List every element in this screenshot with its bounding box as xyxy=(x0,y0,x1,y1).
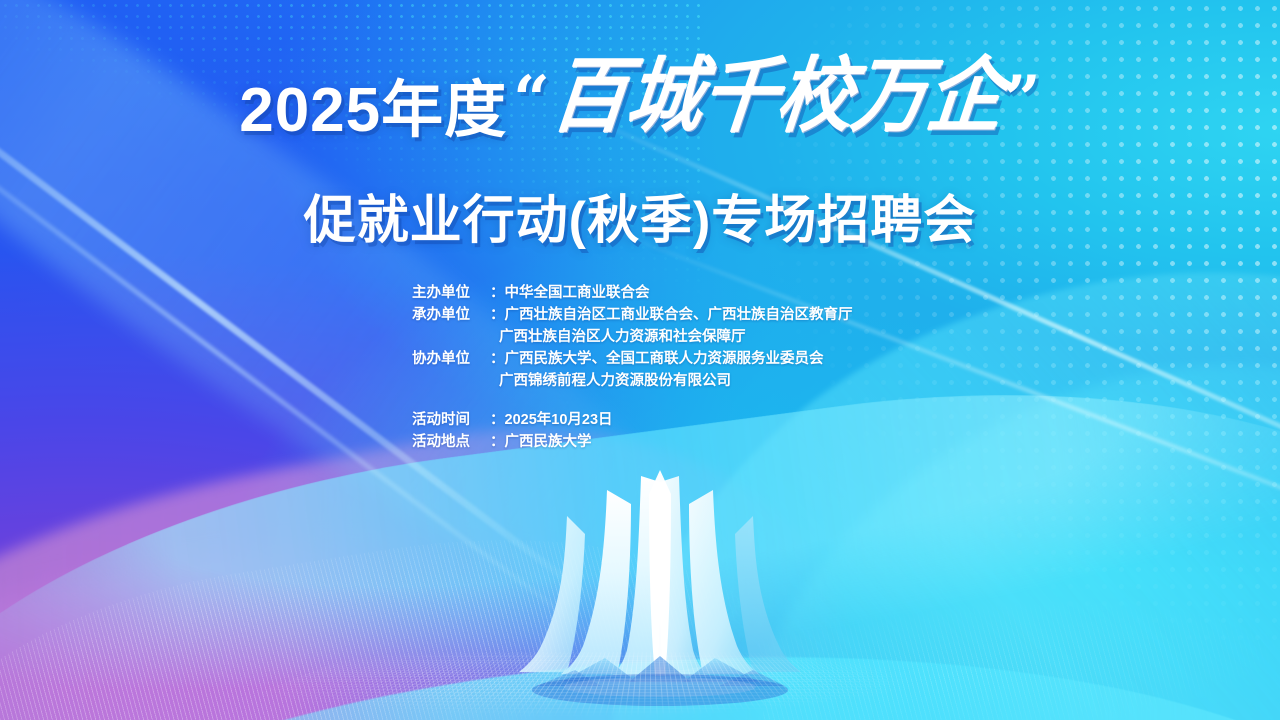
organizer-colon: ： xyxy=(490,304,505,326)
title-year: 2025年度 xyxy=(239,80,507,142)
organizer-value: 中华全国工商业联合会 xyxy=(505,282,973,304)
main-title: 2025年度 “ 百城千校万企 ” xyxy=(0,66,1280,142)
organizer-row: 主办单位 ： 中华全国工商业联合会 xyxy=(412,282,972,304)
title-slogan-group: “ 百城千校万企 ” xyxy=(513,58,1041,134)
organizer-colon: ： xyxy=(490,348,505,370)
event-time-row: 活动时间 ： 2025年10月23日 xyxy=(412,409,972,431)
organizer-value-continued: 广西壮族自治区人力资源和社会保障厅 xyxy=(412,326,972,348)
event-time-value: 2025年10月23日 xyxy=(505,409,973,431)
event-meta-block: 活动时间 ： 2025年10月23日 活动地点 ： 广西民族大学 xyxy=(412,409,972,453)
organizer-value: 广西民族大学、全国工商联人力资源服务业委员会 xyxy=(505,348,973,370)
organizer-label: 承办单位 xyxy=(412,304,490,326)
poster-canvas: 2025年度 “ 百城千校万企 ” 促就业行动(秋季)专场招聘会 主办单位 ： … xyxy=(0,0,1280,720)
organizer-label: 主办单位 xyxy=(412,282,490,304)
quote-close-icon: ” xyxy=(1004,68,1041,132)
event-location-label: 活动地点 xyxy=(412,431,490,453)
poster-subtitle: 促就业行动(秋季)专场招聘会 xyxy=(0,178,1280,253)
organizer-row: 承办单位 ： 广西壮族自治区工商业联合会、广西壮族自治区教育厅 xyxy=(412,304,972,326)
poster-content: 2025年度 “ 百城千校万企 ” 促就业行动(秋季)专场招聘会 主办单位 ： … xyxy=(0,0,1280,720)
organizer-value-continued: 广西锦绣前程人力资源股份有限公司 xyxy=(412,370,972,392)
event-time-colon: ： xyxy=(490,409,505,431)
info-block: 主办单位 ： 中华全国工商业联合会 承办单位 ： 广西壮族自治区工商业联合会、广… xyxy=(412,282,972,453)
event-time-label: 活动时间 xyxy=(412,409,490,431)
event-location-row: 活动地点 ： 广西民族大学 xyxy=(412,431,972,453)
event-location-value: 广西民族大学 xyxy=(505,431,973,453)
title-slogan: 百城千校万企 xyxy=(544,55,1011,137)
organizer-label: 协办单位 xyxy=(412,348,490,370)
organizer-colon: ： xyxy=(490,282,505,304)
organizer-row: 协办单位 ： 广西民族大学、全国工商联人力资源服务业委员会 xyxy=(412,348,972,370)
event-location-colon: ： xyxy=(490,431,505,453)
organizer-value: 广西壮族自治区工商业联合会、广西壮族自治区教育厅 xyxy=(505,304,973,326)
